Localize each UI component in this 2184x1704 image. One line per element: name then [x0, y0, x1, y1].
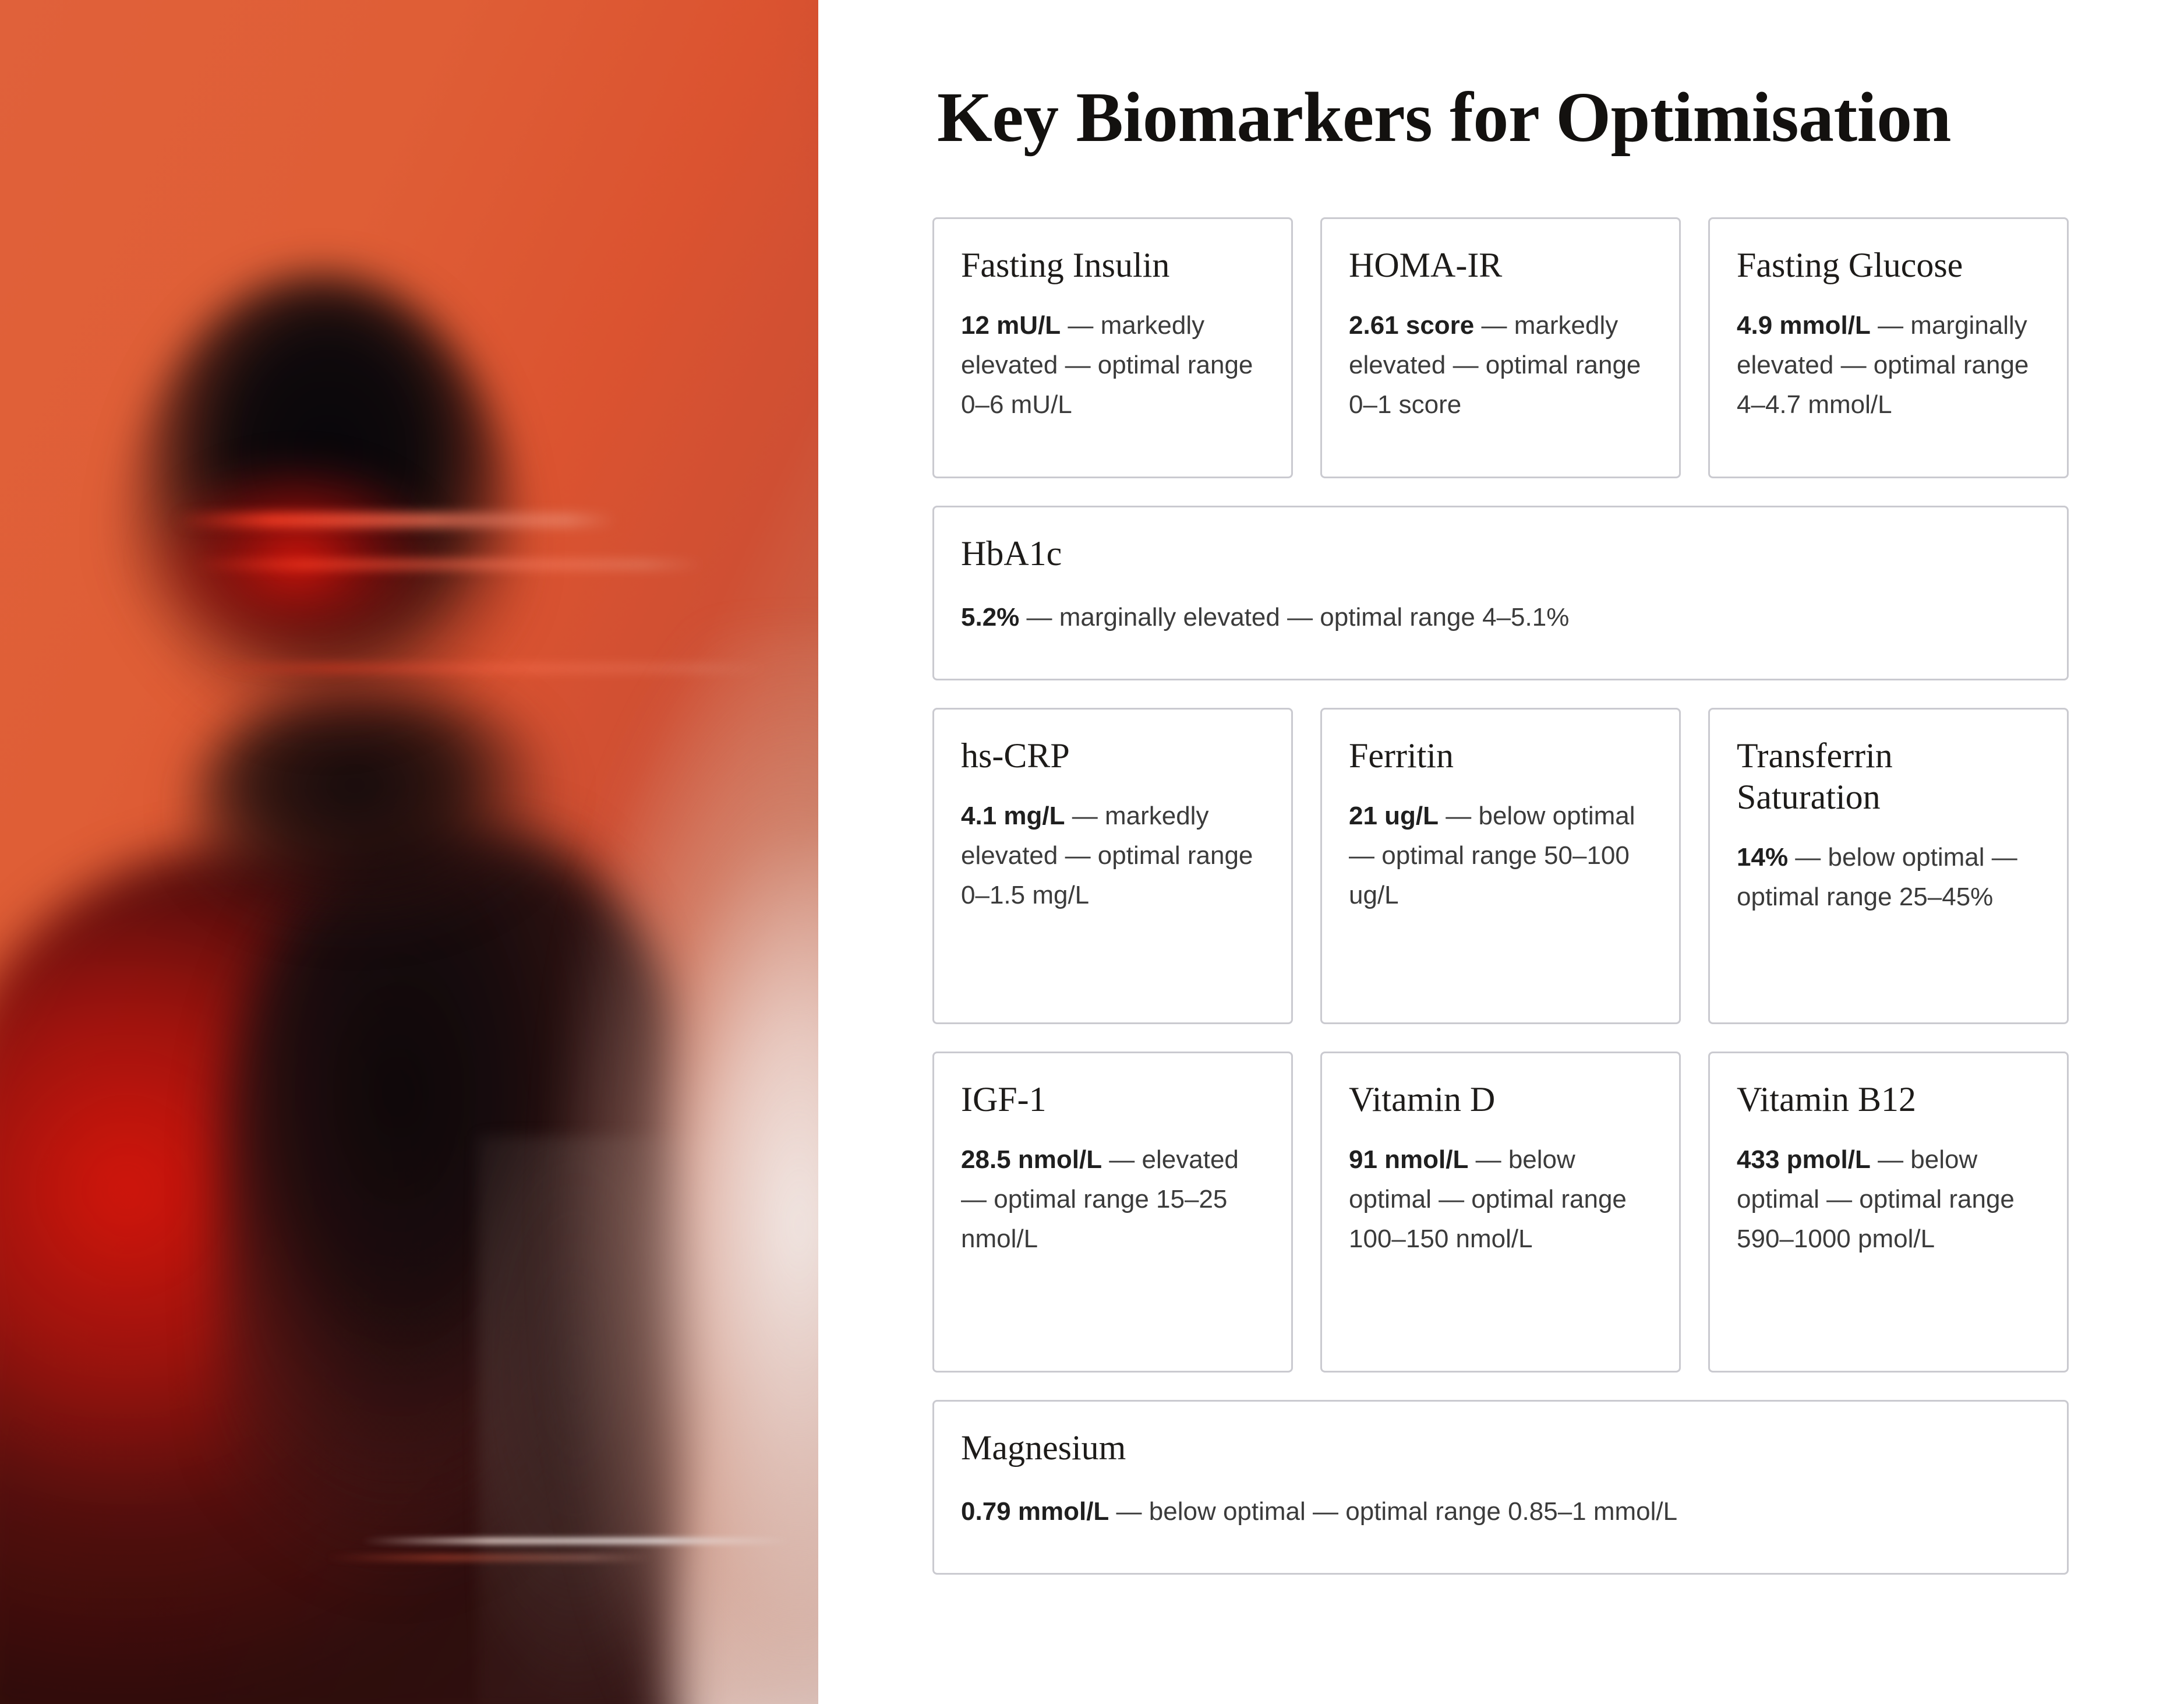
biomarker-value: 28.5 nmol/L [961, 1145, 1102, 1174]
biomarker-name: IGF-1 [961, 1079, 1266, 1120]
biomarker-row: HbA1c 5.2% — marginally elevated — optim… [932, 506, 2069, 680]
biomarker-card-magnesium[interactable]: Magnesium 0.79 mmol/L — below optimal — … [932, 1400, 2069, 1575]
biomarker-card-hs-crp[interactable]: hs-CRP 4.1 mg/L — markedly elevated — op… [932, 708, 1293, 1024]
biomarker-status-range: — marginally elevated — optimal range 4–… [1019, 603, 1569, 631]
biomarker-card-vitamin-b12[interactable]: Vitamin B12 433 pmol/L — below optimal —… [1708, 1052, 2069, 1373]
biomarker-card-fasting-insulin[interactable]: Fasting Insulin 12 mU/L — markedly eleva… [932, 217, 1293, 478]
content-panel: Key Biomarkers for Optimisation Fasting … [818, 0, 2184, 1704]
biomarker-card-homa-ir[interactable]: HOMA-IR 2.61 score — markedly elevated —… [1320, 217, 1681, 478]
biomarker-value: 5.2% [961, 603, 1019, 631]
biomarker-value: 4.9 mmol/L [1737, 311, 1871, 340]
biomarker-name: hs-CRP [961, 735, 1266, 777]
biomarker-card-ferritin[interactable]: Ferritin 21 ug/L — below optimal — optim… [1320, 708, 1681, 1024]
slide-root: Key Biomarkers for Optimisation Fasting … [0, 0, 2184, 1704]
biomarker-row: Magnesium 0.79 mmol/L — below optimal — … [932, 1400, 2069, 1575]
biomarker-row: Fasting Insulin 12 mU/L — markedly eleva… [932, 217, 2069, 478]
biomarker-value: 91 nmol/L [1349, 1145, 1468, 1174]
biomarker-status-range: — below optimal — optimal range 0.85–1 m… [1109, 1497, 1677, 1526]
biomarker-value: 2.61 score [1349, 311, 1474, 340]
biomarker-detail: 0.79 mmol/L — below optimal — optimal ra… [961, 1492, 2041, 1532]
biomarker-detail: 14% — below optimal — optimal range 25–4… [1737, 838, 2041, 917]
biomarker-card-transferrin-saturation[interactable]: Transferrin Saturation 14% — below optim… [1708, 708, 2069, 1024]
biomarker-name: HbA1c [961, 533, 2041, 574]
biomarker-detail: 28.5 nmol/L — elevated — optimal range 1… [961, 1140, 1266, 1260]
biomarker-value: 21 ug/L [1349, 802, 1439, 830]
biomarker-name: Magnesium [961, 1427, 2041, 1469]
biomarker-value: 0.79 mmol/L [961, 1497, 1109, 1526]
biomarker-detail: 4.9 mmol/L — marginally elevated — optim… [1737, 306, 2041, 425]
biomarker-name: Fasting Glucose [1737, 245, 2041, 286]
biomarker-detail: 2.61 score — markedly elevated — optimal… [1349, 306, 1653, 425]
biomarker-row: IGF-1 28.5 nmol/L — elevated — optimal r… [932, 1052, 2069, 1373]
biomarker-value: 12 mU/L [961, 311, 1061, 340]
biomarker-detail: 12 mU/L — markedly elevated — optimal ra… [961, 306, 1266, 425]
biomarker-detail: 4.1 mg/L — markedly elevated — optimal r… [961, 796, 1266, 916]
biomarker-value: 14% [1737, 843, 1788, 872]
biomarker-card-vitamin-d[interactable]: Vitamin D 91 nmol/L — below optimal — op… [1320, 1052, 1681, 1373]
biomarker-detail: 21 ug/L — below optimal — optimal range … [1349, 796, 1653, 916]
biomarker-detail: 91 nmol/L — below optimal — optimal rang… [1349, 1140, 1653, 1260]
biomarker-name: Ferritin [1349, 735, 1653, 777]
biomarker-detail: 433 pmol/L — below optimal — optimal ran… [1737, 1140, 2041, 1260]
page-title: Key Biomarkers for Optimisation [937, 76, 1951, 160]
biomarker-value: 433 pmol/L [1737, 1145, 1871, 1174]
biomarker-card-hba1c[interactable]: HbA1c 5.2% — marginally elevated — optim… [932, 506, 2069, 680]
biomarker-name: HOMA-IR [1349, 245, 1653, 286]
hero-portrait-image [0, 0, 818, 1704]
biomarker-row: hs-CRP 4.1 mg/L — markedly elevated — op… [932, 708, 2069, 1024]
biomarker-name: Vitamin D [1349, 1079, 1653, 1120]
biomarker-card-fasting-glucose[interactable]: Fasting Glucose 4.9 mmol/L — marginally … [1708, 217, 2069, 478]
biomarker-detail: 5.2% — marginally elevated — optimal ran… [961, 598, 2041, 637]
biomarker-grid: Fasting Insulin 12 mU/L — markedly eleva… [932, 217, 2069, 1575]
biomarker-name: Fasting Insulin [961, 245, 1266, 286]
biomarker-card-igf-1[interactable]: IGF-1 28.5 nmol/L — elevated — optimal r… [932, 1052, 1293, 1373]
biomarker-value: 4.1 mg/L [961, 802, 1065, 830]
biomarker-name: Vitamin B12 [1737, 1079, 2041, 1120]
biomarker-name: Transferrin Saturation [1737, 735, 2041, 818]
hero-vignette [0, 0, 818, 1704]
